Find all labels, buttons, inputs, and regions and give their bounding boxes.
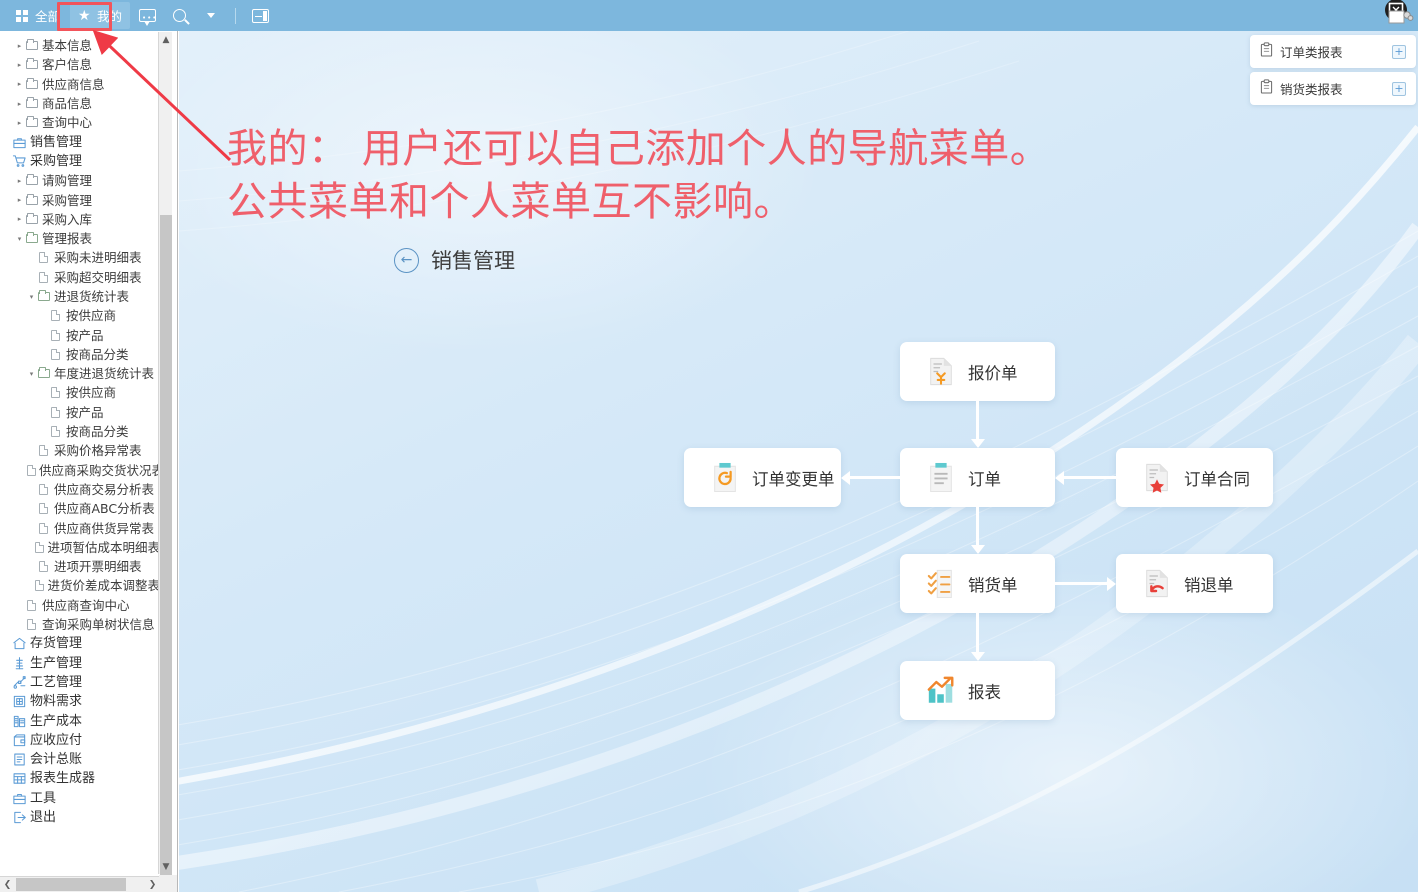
file-icon [48,310,63,321]
logout-icon [12,810,27,825]
search-button[interactable] [164,2,194,29]
sidebar-item-30[interactable]: 查询采购单树状信息 [0,615,160,634]
sidebar-item-label: 客户信息 [42,55,92,74]
clipboard-small-icon [1260,79,1273,98]
cart-icon [12,154,27,169]
sidebar-item-25[interactable]: 供应商供货异常表 [0,518,160,537]
file-icon [48,426,63,437]
message-button[interactable]: ••• [132,2,162,29]
folder-icon [24,196,39,205]
sidebar-vertical-scrollbar[interactable]: ▲ ▼ [158,32,172,874]
flow-node-label: 报表 [968,679,1001,703]
sidebar-item-27[interactable]: 进项开票明细表 [0,557,160,576]
sidebar-horizontal-scrollbar[interactable]: ❮ ❯ [0,876,160,892]
flow-node-label: 销货单 [968,572,1018,596]
sidebar-item-label: 商品信息 [42,94,92,113]
file-icon [36,484,51,495]
report-card-0[interactable]: 订单类报表+ [1250,35,1416,68]
sidebar-item-label: 采购管理 [42,191,92,210]
sidebar-item-7[interactable]: ▸请购管理 [0,171,160,190]
flow-node-label: 订单 [968,466,1001,490]
table-icon [12,771,27,786]
file-icon [36,523,51,534]
sidebar-item-label: 按商品分类 [66,345,129,364]
scroll-down-button[interactable]: ▼ [159,859,173,874]
add-report-button[interactable]: + [1392,45,1406,59]
folder-icon [24,60,39,69]
sidebar-item-label: 按产品 [66,403,104,422]
flow-node-order[interactable]: 订单 [900,448,1055,507]
file-icon [36,445,51,456]
sidebar-item-label: 进项开票明细表 [54,557,142,576]
expand-arrow-icon: ▸ [15,196,24,204]
report-card-label: 销货类报表 [1280,79,1392,98]
folder-icon [24,215,39,224]
collapse-panel-icon [252,9,269,23]
sidebar-item-15[interactable]: 按产品 [0,325,160,344]
grid-icon [16,9,30,23]
sidebar-item-0[interactable]: ▸基本信息 [0,36,160,55]
sidebar-item-label: 供应商采购交货状况表 [39,461,160,480]
folder-open-icon [24,234,39,243]
sidebar-item-5[interactable]: 销售管理 [0,132,160,151]
file-icon [36,272,51,283]
folder-open-icon [36,369,51,378]
sidebar-item-label: 生产管理 [30,654,82,673]
expand-arrow-icon: ▸ [15,100,24,108]
sidebar-item-20[interactable]: 按商品分类 [0,422,160,441]
sidebar-item-label: 采购超交明细表 [54,268,142,287]
report-card-1[interactable]: 销货类报表+ [1250,72,1416,105]
sidebar-item-31[interactable]: 存货管理 [0,634,160,653]
file-icon [48,349,63,360]
expand-arrow-icon: ▸ [15,42,24,50]
sidebar: ▸基本信息▸客户信息▸供应商信息▸商品信息▸查询中心销售管理采购管理▸请购管理▸… [0,31,178,892]
sidebar-item-label: 按供应商 [66,383,116,402]
briefcase-icon [12,135,27,150]
sidebar-item-label: 供应商信息 [42,75,105,94]
flow-node-change[interactable]: 订单变更单 [684,448,841,507]
folder-icon [24,41,39,50]
sidebar-item-35[interactable]: 生产成本 [0,711,160,730]
sidebar-item-label: 按产品 [66,326,104,345]
sidebar-item-label: 进货价差成本调整表 [47,576,160,595]
flow-node-quote[interactable]: 报价单 [900,342,1055,401]
sidebar-item-4[interactable]: ▸查询中心 [0,113,160,132]
flow-connector [1055,582,1108,585]
sidebar-item-label: 采购管理 [30,152,82,171]
quote-doc-icon [926,355,956,388]
sidebar-item-12[interactable]: 采购超交明细表 [0,268,160,287]
flow-connector [976,613,979,653]
sidebar-item-label: 供应商供货异常表 [54,519,154,538]
sidebar-item-label: 采购价格异常表 [54,441,142,460]
report-card-label: 订单类报表 [1280,42,1392,61]
top-toolbar: 全部 ★ 我的 ••• [0,0,1418,31]
sidebar-item-label: 进退货统计表 [54,287,129,306]
material-icon [12,694,27,709]
clipboard-icon [926,461,956,494]
flow-connector [976,507,979,546]
sidebar-item-label: 查询采购单树状信息 [42,615,155,634]
tab-all-label: 全部 [35,6,60,25]
flow-diagram: 报价单订单订单变更单订单合同销货单销退单报表 [179,31,1418,892]
sidebar-item-28[interactable]: 进货价差成本调整表 [0,576,160,595]
file-icon [34,580,45,591]
wallet-icon [12,733,27,748]
sidebar-item-label: 应收应付 [30,731,82,750]
file-icon [48,330,63,341]
flow-connector [976,401,979,440]
refresh-clip-icon [710,461,740,494]
flow-node-sales[interactable]: 销货单 [900,554,1055,613]
add-report-button[interactable]: + [1392,82,1406,96]
vertical-scroll-thumb[interactable] [160,215,172,875]
flow-node-label: 销退单 [1184,572,1234,596]
toolbar-divider [235,8,236,24]
scroll-left-button[interactable]: ❮ [0,877,15,892]
sidebar-item-label: 按供应商 [66,306,116,325]
collapse-panel-button[interactable] [245,2,275,29]
sidebar-item-40[interactable]: 退出 [0,808,160,827]
file-icon [36,252,51,263]
sidebar-item-label: 基本信息 [42,36,92,55]
chart-icon [926,674,956,707]
report-shortcut-panel: 订单类报表+销货类报表+ [1250,35,1416,109]
collapse-arrow-icon: ▾ [15,235,24,243]
flow-arrowhead [971,652,985,661]
ledger-icon [12,752,27,767]
sidebar-item-label: 物料需求 [30,692,82,711]
sidebar-item-10[interactable]: ▾管理报表 [0,229,160,248]
sidebar-item-label: 采购未进明细表 [54,248,142,267]
file-icon [34,542,45,553]
sidebar-item-33[interactable]: 工艺管理 [0,673,160,692]
flow-arrowhead [971,545,985,554]
flow-node-return[interactable]: 销退单 [1116,554,1273,613]
sidebar-item-label: 报表生成器 [30,769,95,788]
sidebar-item-18[interactable]: 按供应商 [0,383,160,402]
sidebar-item-29[interactable]: 供应商查询中心 [0,596,160,615]
sidebar-item-39[interactable]: 工具 [0,789,160,808]
folder-open-icon [36,292,51,301]
sidebar-item-label: 按商品分类 [66,422,129,441]
sidebar-item-19[interactable]: 按产品 [0,403,160,422]
sidebar-item-label: 会计总账 [30,750,82,769]
file-icon [48,387,63,398]
checklist-icon [926,567,956,600]
flow-arrowhead [1107,577,1116,591]
sidebar-item-1[interactable]: ▸客户信息 [0,55,160,74]
sidebar-item-label: 供应商查询中心 [42,596,130,615]
process-icon [12,675,27,690]
star-icon: ★ [78,9,92,23]
file-icon [36,561,51,572]
home-icon [12,636,27,651]
sidebar-item-11[interactable]: 采购未进明细表 [0,248,160,267]
sidebar-item-36[interactable]: 应收应付 [0,731,160,750]
folder-icon [24,118,39,127]
sidebar-item-32[interactable]: 生产管理 [0,654,160,673]
file-icon [36,503,51,514]
navigation-tree[interactable]: ▸基本信息▸客户信息▸供应商信息▸商品信息▸查询中心销售管理采购管理▸请购管理▸… [0,31,160,875]
tab-mine[interactable]: ★ 我的 [70,2,130,29]
sidebar-item-label: 退出 [30,808,56,827]
sidebar-item-label: 管理报表 [42,229,92,248]
folder-icon [24,99,39,108]
sidebar-item-label: 销售管理 [30,133,82,152]
sidebar-item-24[interactable]: 供应商ABC分析表 [0,499,160,518]
sidebar-item-22[interactable]: 供应商采购交货状况表 [0,461,160,480]
flow-arrowhead [841,471,850,485]
sidebar-item-label: 工具 [30,789,56,808]
collapse-arrow-icon: ▾ [27,370,36,378]
file-icon [27,465,36,476]
sidebar-item-label: 年度进退货统计表 [54,364,154,383]
sidebar-item-16[interactable]: 按商品分类 [0,345,160,364]
sidebar-item-38[interactable]: 报表生成器 [0,769,160,788]
clipboard-small-icon [1260,42,1273,61]
folder-icon [24,176,39,185]
scrollbar-corner [159,875,177,892]
flow-node-contract[interactable]: 订单合同 [1116,448,1273,507]
expand-arrow-icon: ▸ [15,119,24,127]
sidebar-item-label: 进项暂估成本明细表 [47,538,160,557]
sidebar-item-13[interactable]: ▾进退货统计表 [0,287,160,306]
sidebar-item-17[interactable]: ▾年度进退货统计表 [0,364,160,383]
sidebar-item-34[interactable]: 物料需求 [0,692,160,711]
expand-arrow-icon: ▸ [15,215,24,223]
sidebar-item-8[interactable]: ▸采购管理 [0,190,160,209]
sidebar-item-26[interactable]: 进项暂估成本明细表 [0,538,160,557]
expand-arrow-icon: ▸ [15,61,24,69]
chevron-down-icon [207,13,215,18]
tab-mine-label: 我的 [97,6,122,25]
search-icon [173,9,186,22]
sidebar-item-label: 供应商ABC分析表 [54,499,155,518]
sidebar-item-9[interactable]: ▸采购入库 [0,210,160,229]
sidebar-item-label: 请购管理 [42,171,92,190]
message-icon: ••• [139,9,156,22]
expand-arrow-icon: ▸ [15,80,24,88]
sidebar-item-21[interactable]: 采购价格异常表 [0,441,160,460]
file-icon [48,407,63,418]
sidebar-item-37[interactable]: 会计总账 [0,750,160,769]
return-doc-icon [1142,567,1172,600]
sidebar-item-3[interactable]: ▸商品信息 [0,94,160,113]
factory-icon [12,656,27,671]
flow-node-label: 订单合同 [1184,466,1250,490]
star-doc-icon [1142,461,1172,494]
screen-capture-icon [1376,0,1416,28]
sidebar-item-23[interactable]: 供应商交易分析表 [0,480,160,499]
sidebar-item-2[interactable]: ▸供应商信息 [0,75,160,94]
search-dropdown-button[interactable] [196,2,226,29]
cost-icon [12,714,27,729]
sidebar-item-label: 存货管理 [30,634,82,653]
flow-node-label: 订单变更单 [752,466,835,490]
flow-connector [1063,476,1116,479]
main-content: 我的： 用户还可以自己添加个人的导航菜单。 公共菜单和个人菜单互不影响。 ← 销… [179,31,1418,892]
sidebar-item-label: 生产成本 [30,712,82,731]
horizontal-scroll-thumb[interactable] [16,878,126,891]
sidebar-item-label: 工艺管理 [30,673,82,692]
tab-all[interactable]: 全部 [8,2,68,29]
expand-arrow-icon: ▸ [15,177,24,185]
folder-icon [24,80,39,89]
flow-arrowhead [971,439,985,448]
collapse-arrow-icon: ▾ [27,293,36,301]
sidebar-item-label: 供应商交易分析表 [54,480,154,499]
file-icon [24,600,39,611]
scroll-up-button[interactable]: ▲ [159,32,173,47]
flow-arrowhead [1055,471,1064,485]
flow-node-report[interactable]: 报表 [900,661,1055,720]
flow-node-label: 报价单 [968,360,1018,384]
flow-connector [849,476,900,479]
sidebar-item-14[interactable]: 按供应商 [0,306,160,325]
sidebar-item-6[interactable]: 采购管理 [0,152,160,171]
sidebar-item-label: 查询中心 [42,113,92,132]
sidebar-item-label: 采购入库 [42,210,92,229]
file-icon [24,619,39,630]
scroll-right-button[interactable]: ❯ [145,877,160,892]
toolbox-icon [12,791,27,806]
